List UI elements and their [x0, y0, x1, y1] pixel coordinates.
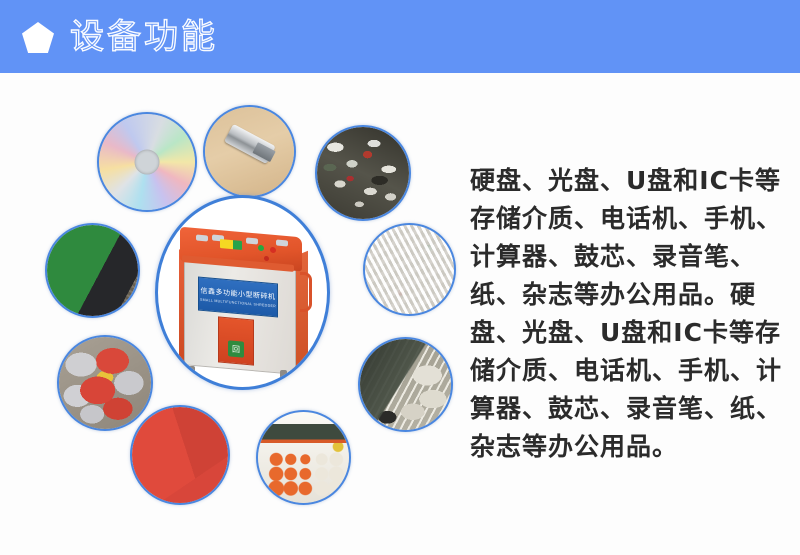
- bubble-circuit-board: [45, 223, 140, 318]
- calculator-image: [258, 412, 349, 503]
- slide-page: 设备功能: [0, 0, 800, 555]
- machine-name-plate: 信鑫多功能小型断碎机 SMALL MULTIFUNCTIONAL SHREDDE…: [198, 277, 278, 318]
- bubble-usb-flash-drive: [203, 105, 296, 198]
- machine-access-door[interactable]: 回: [218, 316, 254, 365]
- shredded-paper-image: [365, 225, 454, 314]
- bubble-shredded-paper: [363, 223, 456, 316]
- shredded-bottles-image: [132, 407, 228, 503]
- bubble-telephone-office: [358, 337, 453, 432]
- emergency-stop-button[interactable]: [264, 256, 269, 261]
- machine-handle: [300, 272, 312, 312]
- bubble-crushed-cans: [57, 335, 153, 431]
- page-title: 设备功能: [70, 20, 218, 54]
- pentagon-icon: [22, 22, 54, 53]
- bubble-shredder-machine: 信鑫多功能小型断碎机 SMALL MULTIFUNCTIONAL SHREDDE…: [155, 195, 330, 390]
- feature-bubble-cluster: 信鑫多功能小型断碎机 SMALL MULTIFUNCTIONAL SHREDDE…: [0, 80, 470, 520]
- optical-disc-image: [99, 114, 195, 210]
- power-on-button[interactable]: [258, 245, 264, 252]
- description-text: 硬盘、光盘、U盘和IC卡等存储介质、电话机、手机、计算器、鼓芯、录音笔、纸、杂志…: [470, 162, 790, 466]
- usb-flash-drive-image: [205, 107, 294, 196]
- recycle-logo-icon: 回: [228, 340, 244, 357]
- control-slot-1: [196, 234, 208, 241]
- bubble-optical-disc: [97, 112, 197, 212]
- shredded-ewaste-image: [317, 127, 409, 219]
- header-bar: 设备功能: [0, 0, 800, 73]
- machine-wheel-right: [280, 370, 287, 379]
- bubble-shredded-bottles: [130, 405, 230, 505]
- shredder-machine-image: 信鑫多功能小型断碎机 SMALL MULTIFUNCTIONAL SHREDDE…: [176, 220, 316, 375]
- warning-sticker: [220, 239, 242, 250]
- control-slot-3: [246, 237, 258, 244]
- power-off-button[interactable]: [270, 247, 276, 254]
- crushed-cans-image: [59, 337, 151, 429]
- bubble-shredded-ewaste: [315, 125, 411, 221]
- telephone-office-image: [360, 339, 451, 430]
- control-slot-4: [276, 239, 288, 246]
- bubble-calculator: [256, 410, 351, 505]
- machine-wheel-left: [188, 366, 195, 375]
- circuit-board-image: [47, 225, 138, 316]
